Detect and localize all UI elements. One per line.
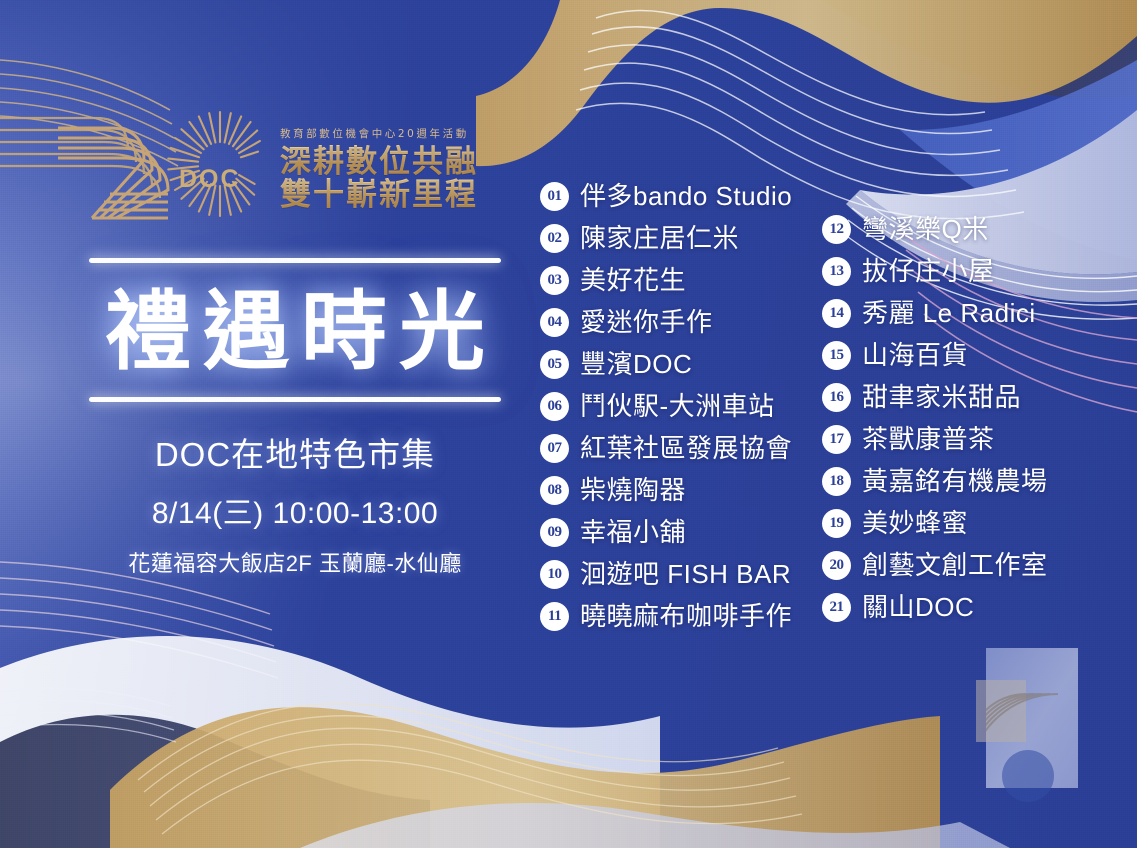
vendor-number-badge: 20	[822, 551, 851, 580]
vendor-number-badge: 13	[822, 257, 851, 286]
logo-kicker: 教育部數位機會中心20週年活動	[280, 126, 520, 141]
vendor-name: 拔仔庄小屋	[862, 257, 995, 286]
logo-doc-text: DOC	[179, 165, 241, 194]
vendor-number-badge: 03	[540, 266, 569, 295]
vendor-list-item: 04愛迷你手作	[540, 308, 840, 337]
vendor-number-badge: 06	[540, 392, 569, 421]
vendor-list-item: 07紅葉社區發展協會	[540, 434, 840, 463]
event-datetime: 8/14(三) 10:00-13:00	[60, 488, 530, 532]
vendor-number-badge: 02	[540, 224, 569, 253]
vendor-list-item: 19美妙蜂蜜	[822, 509, 1122, 538]
vendor-list-item: 20創藝文創工作室	[822, 551, 1122, 580]
vendor-list-item: 16甜聿家米甜品	[822, 383, 1122, 412]
vendor-name: 鬥伙駅-大洲車站	[580, 392, 775, 421]
vendor-number-badge: 21	[822, 593, 851, 622]
vendor-number-badge: 09	[540, 518, 569, 547]
vendor-number-badge: 18	[822, 467, 851, 496]
vendor-number-badge: 19	[822, 509, 851, 538]
decorative-grain-square	[976, 648, 1088, 806]
vendor-name: 陳家庄居仁米	[580, 224, 739, 253]
logo-heading-text: 教育部數位機會中心20週年活動 深耕數位共融 雙十嶄新里程	[280, 126, 520, 212]
vendor-list-item: 17茶獸康普茶	[822, 425, 1122, 454]
vendor-name: 曉曉麻布咖啡手作	[580, 602, 792, 631]
vendor-name: 茶獸康普茶	[862, 425, 995, 454]
vendor-name: 幸福小舖	[580, 518, 686, 547]
logo-slogan-line-2: 雙十嶄新里程	[280, 178, 520, 211]
logo-slogan-line-1: 深耕數位共融	[280, 145, 520, 178]
vendor-number-badge: 08	[540, 476, 569, 505]
vendor-list-item: 02陳家庄居仁米	[540, 224, 840, 253]
vendor-number-badge: 17	[822, 425, 851, 454]
vendor-number-badge: 04	[540, 308, 569, 337]
vendor-name: 美妙蜂蜜	[862, 509, 968, 538]
vendor-name: 甜聿家米甜品	[862, 383, 1021, 412]
vendor-list-item: 03美好花生	[540, 266, 840, 295]
vendor-list-item: 14秀麗 Le Radici	[822, 299, 1122, 328]
vendor-list-item: 09幸福小舖	[540, 518, 840, 547]
vendor-number-badge: 16	[822, 383, 851, 412]
event-venue: 花蓮福容大飯店2F 玉蘭廳-水仙廳	[60, 546, 530, 578]
logo-mark-20	[52, 92, 282, 232]
vendor-name: 愛迷你手作	[580, 308, 713, 337]
vendor-list-item: 13拔仔庄小屋	[822, 257, 1122, 286]
vendor-name: 柴燒陶器	[580, 476, 686, 505]
vendor-name: 紅葉社區發展協會	[580, 434, 792, 463]
vendor-name: 山海百貨	[862, 341, 968, 370]
vendor-number-badge: 14	[822, 299, 851, 328]
vendor-name: 創藝文創工作室	[862, 551, 1048, 580]
vendor-number-badge: 07	[540, 434, 569, 463]
vendor-list-column-b: 12彎溪樂Q米13拔仔庄小屋14秀麗 Le Radici15山海百貨16甜聿家米…	[822, 215, 1122, 635]
vendor-list-item: 21關山DOC	[822, 593, 1122, 622]
vendor-name: 秀麗 Le Radici	[862, 299, 1036, 328]
vendor-list-item: 08柴燒陶器	[540, 476, 840, 505]
event-title-block: 禮遇時光 DOC在地特色市集 8/14(三) 10:00-13:00 花蓮福容大…	[60, 258, 530, 578]
vendor-list-item: 10洄遊吧 FISH BAR	[540, 560, 840, 589]
title-rule-top	[89, 258, 501, 263]
vendor-list-column-a: 01伴多bando Studio02陳家庄居仁米03美好花生04愛迷你手作05豐…	[540, 182, 840, 644]
vendor-list-item: 01伴多bando Studio	[540, 182, 840, 211]
vendor-name: 伴多bando Studio	[580, 182, 792, 211]
vendor-name: 黃嘉銘有機農場	[862, 467, 1048, 496]
vendor-number-badge: 05	[540, 350, 569, 379]
vendor-name: 洄遊吧 FISH BAR	[580, 560, 791, 589]
vendor-name: 彎溪樂Q米	[862, 215, 989, 244]
event-subtitle: DOC在地特色市集	[60, 428, 530, 476]
vendor-number-badge: 01	[540, 182, 569, 211]
vendor-list-item: 11曉曉麻布咖啡手作	[540, 602, 840, 631]
vendor-name: 美好花生	[580, 266, 686, 295]
vendor-name: 豐濱DOC	[580, 350, 692, 379]
vendor-name: 關山DOC	[862, 593, 974, 622]
title-rule-bottom	[89, 397, 501, 402]
vendor-list-item: 12彎溪樂Q米	[822, 215, 1122, 244]
poster-canvas: DOC 教育部數位機會中心20週年活動 深耕數位共融 雙十嶄新里程 禮遇時光 D…	[0, 0, 1137, 848]
vendor-number-badge: 10	[540, 560, 569, 589]
vendor-list-item: 06鬥伙駅-大洲車站	[540, 392, 840, 421]
vendor-number-badge: 11	[540, 602, 569, 631]
main-title: 禮遇時光	[60, 277, 530, 387]
vendor-list-item: 18黃嘉銘有機農場	[822, 467, 1122, 496]
vendor-number-badge: 15	[822, 341, 851, 370]
vendor-number-badge: 12	[822, 215, 851, 244]
vendor-list-item: 15山海百貨	[822, 341, 1122, 370]
vendor-list-item: 05豐濱DOC	[540, 350, 840, 379]
doc-20th-logo: DOC 教育部數位機會中心20週年活動 深耕數位共融 雙十嶄新里程	[52, 92, 512, 232]
